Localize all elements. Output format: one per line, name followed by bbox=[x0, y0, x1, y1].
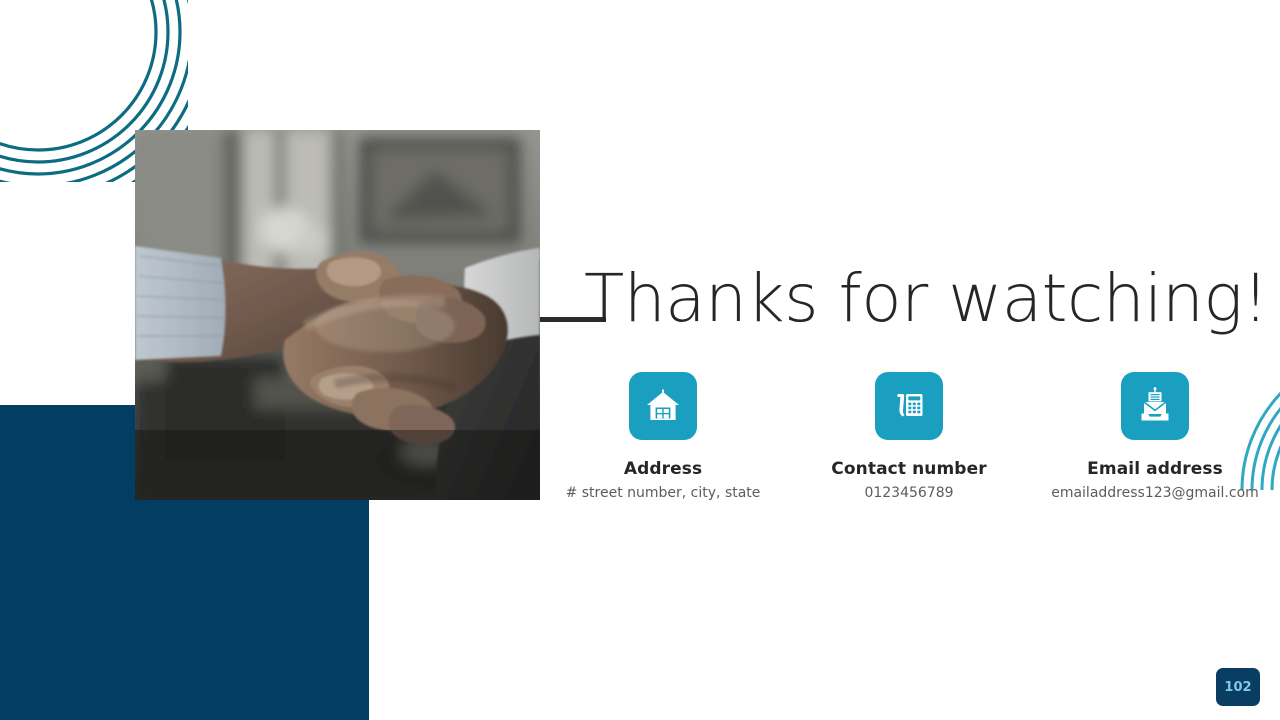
headline-block: Thanks for watching! bbox=[540, 255, 1260, 347]
contact-info-row: Address # street number, city, state bbox=[540, 372, 1280, 501]
slide-canvas: Thanks for watching! Address # street nu… bbox=[0, 0, 1280, 720]
page-title: Thanks for watching! bbox=[584, 255, 1268, 343]
contact-title: Email address bbox=[1087, 459, 1223, 479]
contact-item-address: Address # street number, city, state bbox=[540, 372, 786, 501]
contact-title: Address bbox=[624, 459, 702, 479]
contact-value: # street number, city, state bbox=[566, 485, 761, 501]
contact-title: Contact number bbox=[831, 459, 986, 479]
desk-phone-icon bbox=[875, 372, 943, 440]
page-number-badge: 102 bbox=[1216, 668, 1260, 706]
contact-item-email: Email address emailaddress123@gmail.com bbox=[1032, 372, 1278, 501]
inbox-mail-icon bbox=[1121, 372, 1189, 440]
contact-value: 0123456789 bbox=[864, 485, 953, 501]
contact-value: emailaddress123@gmail.com bbox=[1051, 485, 1259, 501]
business-handshake-photo bbox=[135, 130, 540, 500]
house-icon bbox=[629, 372, 697, 440]
contact-item-phone: Contact number 0123456789 bbox=[786, 372, 1032, 501]
